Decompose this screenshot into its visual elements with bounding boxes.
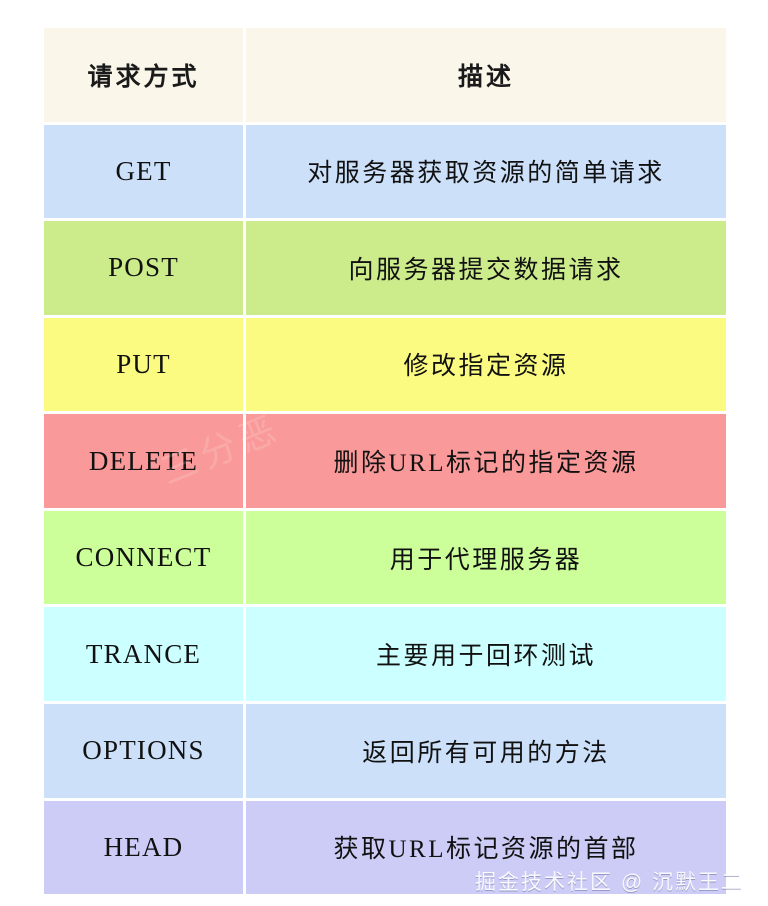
table-row: TRANCE 主要用于回环测试 (44, 607, 726, 704)
description-label: 返回所有可用的方法 (362, 733, 610, 769)
cell-method: OPTIONS (44, 704, 246, 798)
table-row: CONNECT 用于代理服务器 (44, 511, 726, 608)
header-label-description: 描述 (458, 57, 514, 93)
header-cell-description: 描述 (246, 28, 726, 122)
screenshot-canvas: 请求方式 描述 GET 对服务器获取资源的简单请求 POST 向服务器提交数据请… (0, 0, 768, 906)
cell-description: 用于代理服务器 (246, 511, 726, 605)
cell-description: 修改指定资源 (246, 318, 726, 412)
table-row: HEAD 获取URL标记资源的首部 (44, 801, 726, 895)
method-label: OPTIONS (82, 735, 204, 766)
method-label: TRANCE (86, 639, 201, 670)
table-row: PUT 修改指定资源 (44, 318, 726, 415)
description-label: 主要用于回环测试 (376, 636, 596, 672)
cell-description: 删除URL标记的指定资源 (246, 414, 726, 508)
cell-description: 主要用于回环测试 (246, 607, 726, 701)
cell-method: POST (44, 221, 246, 315)
description-label: 对服务器获取资源的简单请求 (307, 153, 665, 189)
method-label: CONNECT (76, 542, 212, 573)
description-label: 删除URL标记的指定资源 (333, 443, 638, 479)
table-row: OPTIONS 返回所有可用的方法 (44, 704, 726, 801)
header-cell-method: 请求方式 (44, 28, 246, 122)
cell-method: TRANCE (44, 607, 246, 701)
cell-method: GET (44, 125, 246, 219)
cell-method: CONNECT (44, 511, 246, 605)
table-header-row: 请求方式 描述 (44, 28, 726, 125)
cell-method: DELETE (44, 414, 246, 508)
method-label: DELETE (89, 446, 198, 477)
method-label: GET (115, 156, 171, 187)
method-label: PUT (116, 349, 171, 380)
method-label: POST (108, 252, 179, 283)
description-label: 用于代理服务器 (390, 540, 583, 576)
cell-method: PUT (44, 318, 246, 412)
table-row: GET 对服务器获取资源的简单请求 (44, 125, 726, 222)
table-row: DELETE 删除URL标记的指定资源 (44, 414, 726, 511)
description-label: 修改指定资源 (403, 346, 568, 382)
http-methods-table: 请求方式 描述 GET 对服务器获取资源的简单请求 POST 向服务器提交数据请… (44, 28, 726, 894)
description-label: 获取URL标记资源的首部 (333, 829, 638, 865)
cell-description: 获取URL标记资源的首部 (246, 801, 726, 895)
table-row: POST 向服务器提交数据请求 (44, 221, 726, 318)
cell-description: 返回所有可用的方法 (246, 704, 726, 798)
description-label: 向服务器提交数据请求 (348, 250, 623, 286)
header-label-method: 请求方式 (87, 57, 199, 93)
cell-description: 向服务器提交数据请求 (246, 221, 726, 315)
method-label: HEAD (104, 832, 184, 863)
cell-method: HEAD (44, 801, 246, 895)
cell-description: 对服务器获取资源的简单请求 (246, 125, 726, 219)
